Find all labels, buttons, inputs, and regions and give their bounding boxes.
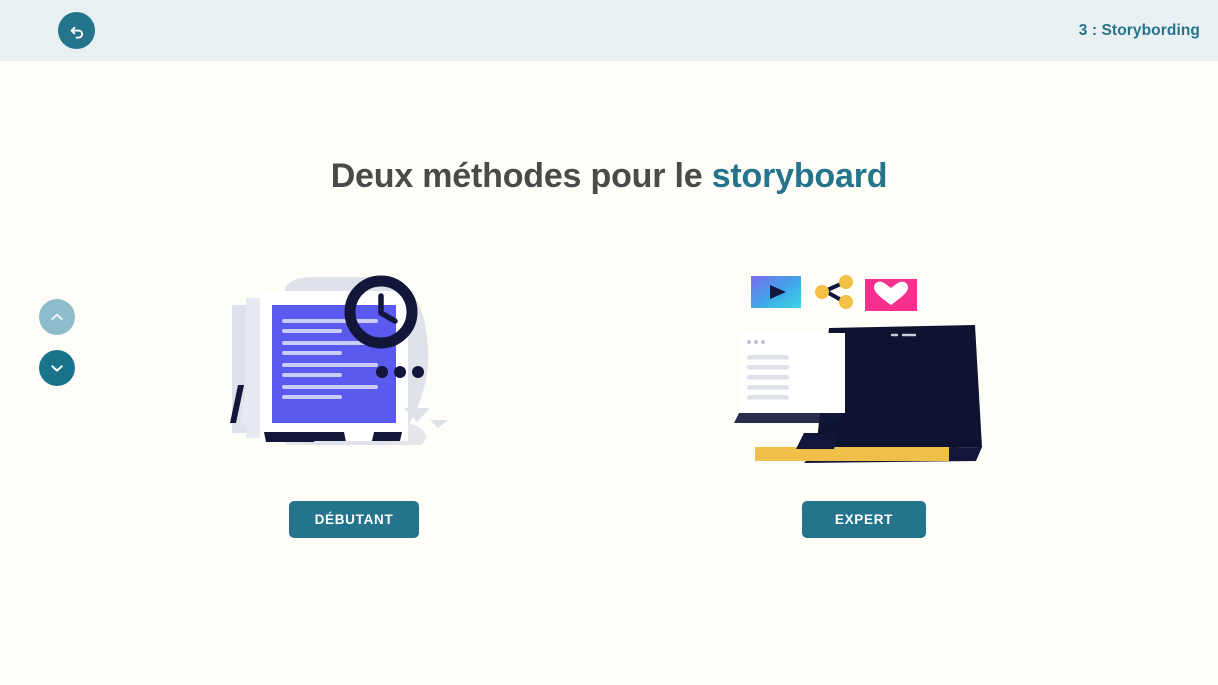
- page-title-plain: Deux méthodes pour le: [331, 157, 712, 195]
- page-title-accent: storyboard: [712, 157, 888, 195]
- method-card-beginner: DÉBUTANT: [99, 265, 609, 538]
- beginner-method-button[interactable]: DÉBUTANT: [289, 501, 420, 538]
- back-button[interactable]: [58, 12, 95, 49]
- page-step-title: 3 : Storybording: [1079, 0, 1200, 61]
- laptop-media-illustration: [734, 265, 994, 475]
- expert-method-button[interactable]: EXPERT: [802, 501, 926, 538]
- share-icon: [815, 275, 853, 309]
- method-card-expert: EXPERT: [609, 265, 1119, 538]
- app-header: 3 : Storybording: [0, 0, 1218, 61]
- undo-arrow-icon: [67, 21, 87, 41]
- document-clock-illustration: [224, 265, 484, 475]
- page-title: Deux méthodes pour le storyboard: [0, 157, 1218, 196]
- method-cards: DÉBUTANT: [0, 265, 1218, 538]
